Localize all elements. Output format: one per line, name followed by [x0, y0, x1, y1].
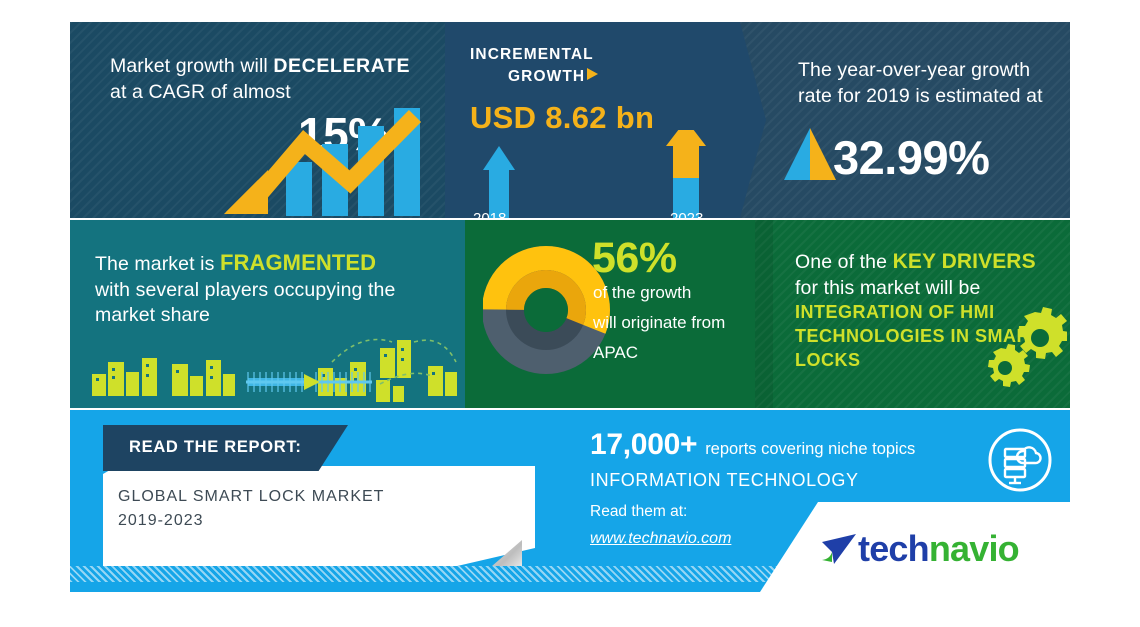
- yoy-text: The year-over-year growth rate for 2019 …: [798, 58, 1056, 109]
- infographic-canvas: Market growth will DECELERATE at a CAGR …: [0, 0, 1140, 627]
- read-them-at-label: Read them at:: [590, 503, 687, 521]
- yoy-line2: rate for 2019 is estimated at: [798, 85, 1043, 107]
- website-link[interactable]: www.technavio.com: [590, 530, 731, 548]
- declining-bar-chart-arrow-icon: [200, 96, 430, 216]
- fragmented-line1-plain: The market is: [95, 253, 220, 275]
- fragmented-text: The market is FRAGMENTED with several pl…: [95, 248, 455, 329]
- drivers-line2: for this market will be: [795, 276, 1060, 302]
- reports-count-line: 17,000+reports covering niche topics: [590, 428, 915, 462]
- reports-caption: reports covering niche topics: [705, 440, 915, 458]
- cloud-server-icon: [985, 425, 1055, 495]
- panel-fragmented-market: The market is FRAGMENTED with several pl…: [70, 220, 465, 408]
- panel-key-drivers: One of the KEY DRIVERS for this market w…: [755, 220, 1070, 408]
- panel-yoy-growth: The year-over-year growth rate for 2019 …: [740, 22, 1070, 218]
- report-title: GLOBAL SMART LOCK MARKET 2019-2023: [118, 485, 518, 533]
- growth-arrow-bars-icon: [467, 130, 727, 218]
- panel-incremental-growth: INCREMENTAL GROWTH USD 8.62 bn 2018 2023: [445, 22, 740, 218]
- apac-text: of the growth will originate from APAC: [593, 278, 753, 367]
- ribbon-label: READ THE REPORT:: [129, 438, 302, 457]
- cagr-line1-bold: DECELERATE: [273, 55, 410, 77]
- technavio-logo[interactable]: technavio: [858, 528, 1019, 570]
- apac-line3: APAC: [593, 338, 753, 368]
- apac-line2: will originate from: [593, 308, 753, 338]
- yoy-value: 32.99%: [833, 127, 989, 189]
- report-title-line2: 2019-2023: [118, 509, 518, 533]
- sector-label: INFORMATION TECHNOLOGY: [590, 470, 859, 491]
- incremental-growth-label: INCREMENTAL GROWTH: [470, 44, 720, 89]
- city-buildings-fragmentation-icon: [80, 328, 460, 406]
- gears-icon: [977, 306, 1067, 392]
- fragmented-line1-bold: FRAGMENTED: [220, 250, 376, 275]
- drivers-line1-plain: One of the: [795, 251, 893, 273]
- incremental-label-line1: INCREMENTAL: [470, 46, 594, 63]
- panel-cagr: Market growth will DECELERATE at a CAGR …: [70, 22, 445, 218]
- play-triangle-icon: [587, 68, 598, 80]
- apac-line1: of the growth: [593, 278, 753, 308]
- logo-text-navio: navio: [929, 528, 1019, 569]
- read-the-report-ribbon: READ THE REPORT:: [103, 425, 348, 471]
- panel-divider-shade: [755, 220, 773, 408]
- drivers-line1-bold: KEY DRIVERS: [893, 250, 1036, 273]
- report-title-line1: GLOBAL SMART LOCK MARKET: [118, 485, 518, 509]
- axis-label-2018: 2018: [473, 210, 506, 218]
- fragmented-line2: with several players occupying the: [95, 278, 455, 304]
- paper-plane-icon: [818, 530, 860, 570]
- yoy-line1: The year-over-year growth: [798, 59, 1030, 81]
- fragmented-line3: market share: [95, 303, 455, 329]
- reports-count: 17,000+: [590, 428, 697, 461]
- panel-apac-share: 56% of the growth will originate from AP…: [465, 220, 755, 408]
- incremental-label-line2: GROWTH: [508, 68, 585, 85]
- cagr-line1-plain: Market growth will: [110, 55, 273, 77]
- logo-text-tech: tech: [858, 528, 929, 569]
- axis-label-2023: 2023: [670, 210, 703, 218]
